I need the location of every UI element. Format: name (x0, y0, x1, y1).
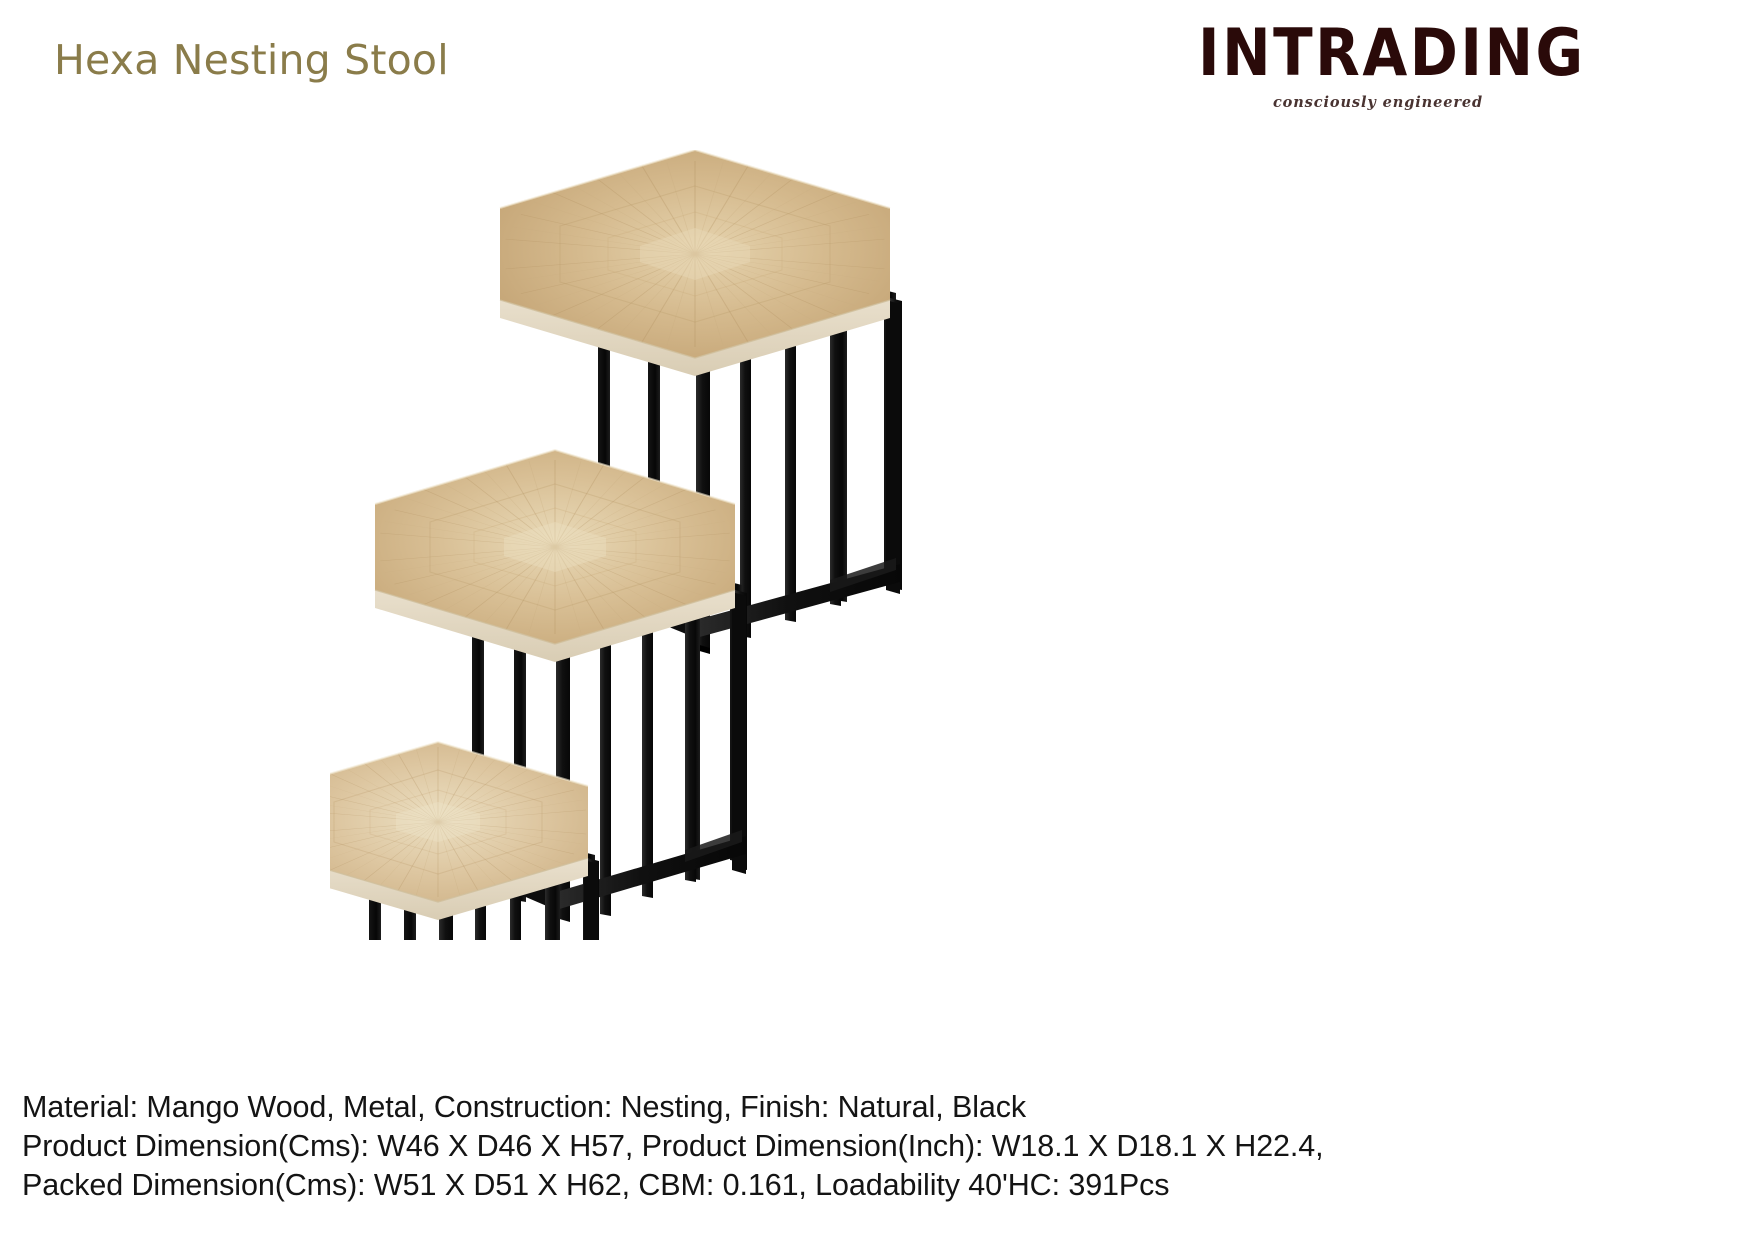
brand-logo: INTRADING consciously engineered (1198, 20, 1558, 111)
page-title: Hexa Nesting Stool (54, 36, 449, 84)
page-header: Hexa Nesting Stool INTRADING consciously… (0, 0, 1754, 140)
spec-line-material: Material: Mango Wood, Metal, Constructio… (22, 1088, 1722, 1127)
spec-line-packed-dimension: Packed Dimension(Cms): W51 X D51 X H62, … (22, 1166, 1722, 1205)
brand-wordmark: INTRADING (1198, 20, 1558, 85)
specifications-block: Material: Mango Wood, Metal, Constructio… (22, 1088, 1722, 1205)
product-photo (330, 150, 1070, 940)
spec-line-product-dimension: Product Dimension(Cms): W46 X D46 X H57,… (22, 1127, 1722, 1166)
brand-tagline: consciously engineered (1198, 94, 1558, 111)
